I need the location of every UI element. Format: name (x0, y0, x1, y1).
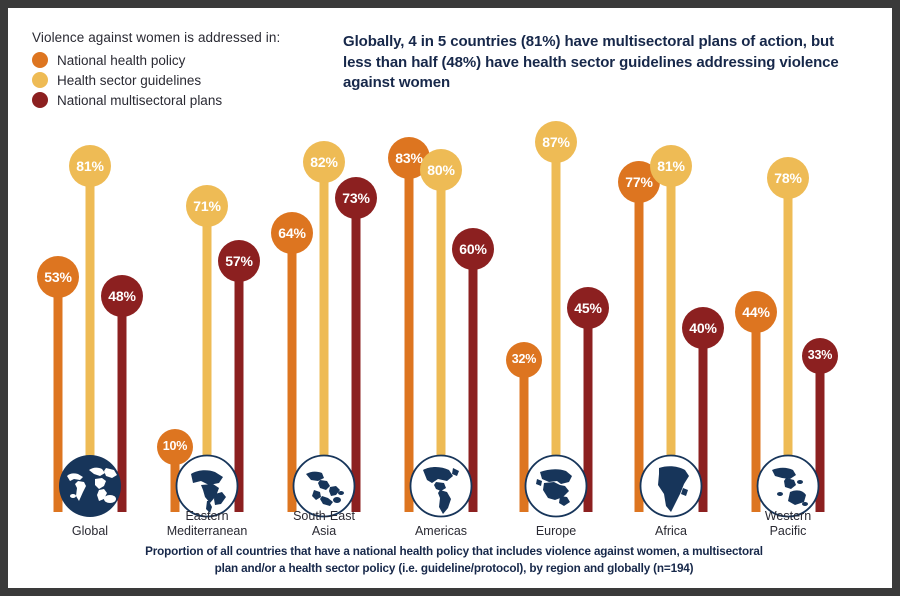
region-label-line: Asia (293, 524, 355, 540)
lollipop-head-policy[interactable]: 64% (271, 212, 313, 254)
region-label-line: Europe (536, 524, 576, 540)
region-label-line: Mediterranean (167, 524, 248, 540)
lollipop-head-plans[interactable]: 40% (682, 307, 724, 349)
region-label-europe: Europe (536, 524, 576, 540)
value-label-policy: 83% (395, 151, 422, 165)
region-label-line: Americas (415, 524, 467, 540)
region-label-americas: Americas (415, 524, 467, 540)
lollipop-head-guidelines[interactable]: 82% (303, 141, 345, 183)
lollipop-head-guidelines[interactable]: 81% (650, 145, 692, 187)
value-label-policy: 44% (742, 305, 769, 319)
globe-world-icon (58, 454, 122, 518)
value-label-guidelines: 78% (774, 171, 801, 185)
lollipop-head-plans[interactable]: 60% (452, 228, 494, 270)
lollipop-chart: 53%81%48%Global10%71%57%EasternMediterra… (8, 8, 892, 588)
lollipop-head-guidelines[interactable]: 71% (186, 185, 228, 227)
value-label-guidelines: 87% (542, 135, 569, 149)
region-label-western-pacific: WesternPacific (765, 509, 811, 540)
globe-europe-icon (524, 454, 588, 518)
value-label-guidelines: 71% (193, 199, 220, 213)
lollipop-head-policy[interactable]: 32% (506, 342, 542, 378)
region-label-line: Africa (655, 524, 687, 540)
region-label-line: Global (72, 524, 108, 540)
region-label-line: Western (765, 509, 811, 525)
value-label-guidelines: 81% (76, 159, 103, 173)
region-label-south-east-asia: South-EastAsia (293, 509, 355, 540)
lollipop-head-plans[interactable]: 57% (218, 240, 260, 282)
lollipop-head-guidelines[interactable]: 78% (767, 157, 809, 199)
region-label-line: South-East (293, 509, 355, 525)
region-label-line: Eastern (167, 509, 248, 525)
infographic-frame: Violence against women is addressed in: … (8, 8, 892, 588)
value-label-policy: 64% (278, 226, 305, 240)
value-label-plans: 33% (808, 349, 832, 362)
lollipop-head-guidelines[interactable]: 81% (69, 145, 111, 187)
value-label-guidelines: 80% (427, 163, 454, 177)
globe-africa-icon (639, 454, 703, 518)
lollipop-head-guidelines[interactable]: 80% (420, 149, 462, 191)
region-label-line: Pacific (765, 524, 811, 540)
value-label-plans: 48% (108, 289, 135, 303)
lollipop-head-plans[interactable]: 45% (567, 287, 609, 329)
chart-caption: Proportion of all countries that have a … (144, 544, 764, 577)
value-label-plans: 60% (459, 242, 486, 256)
region-label-global: Global (72, 524, 108, 540)
lollipop-head-guidelines[interactable]: 87% (535, 121, 577, 163)
value-label-policy: 53% (44, 270, 71, 284)
value-label-plans: 73% (342, 191, 369, 205)
value-label-plans: 40% (689, 321, 716, 335)
lollipop-head-plans[interactable]: 73% (335, 177, 377, 219)
lollipop-head-policy[interactable]: 53% (37, 256, 79, 298)
value-label-guidelines: 81% (657, 159, 684, 173)
lollipop-head-plans[interactable]: 33% (802, 338, 838, 374)
value-label-plans: 45% (574, 301, 601, 315)
region-label-africa: Africa (655, 524, 687, 540)
value-label-plans: 57% (225, 254, 252, 268)
value-label-policy: 10% (163, 440, 187, 453)
globe-americas-icon (409, 454, 473, 518)
value-label-guidelines: 82% (310, 155, 337, 169)
region-label-eastern-mediterranean: EasternMediterranean (167, 509, 248, 540)
value-label-policy: 32% (512, 353, 536, 366)
lollipop-head-policy[interactable]: 44% (735, 291, 777, 333)
value-label-policy: 77% (625, 175, 652, 189)
lollipop-head-plans[interactable]: 48% (101, 275, 143, 317)
